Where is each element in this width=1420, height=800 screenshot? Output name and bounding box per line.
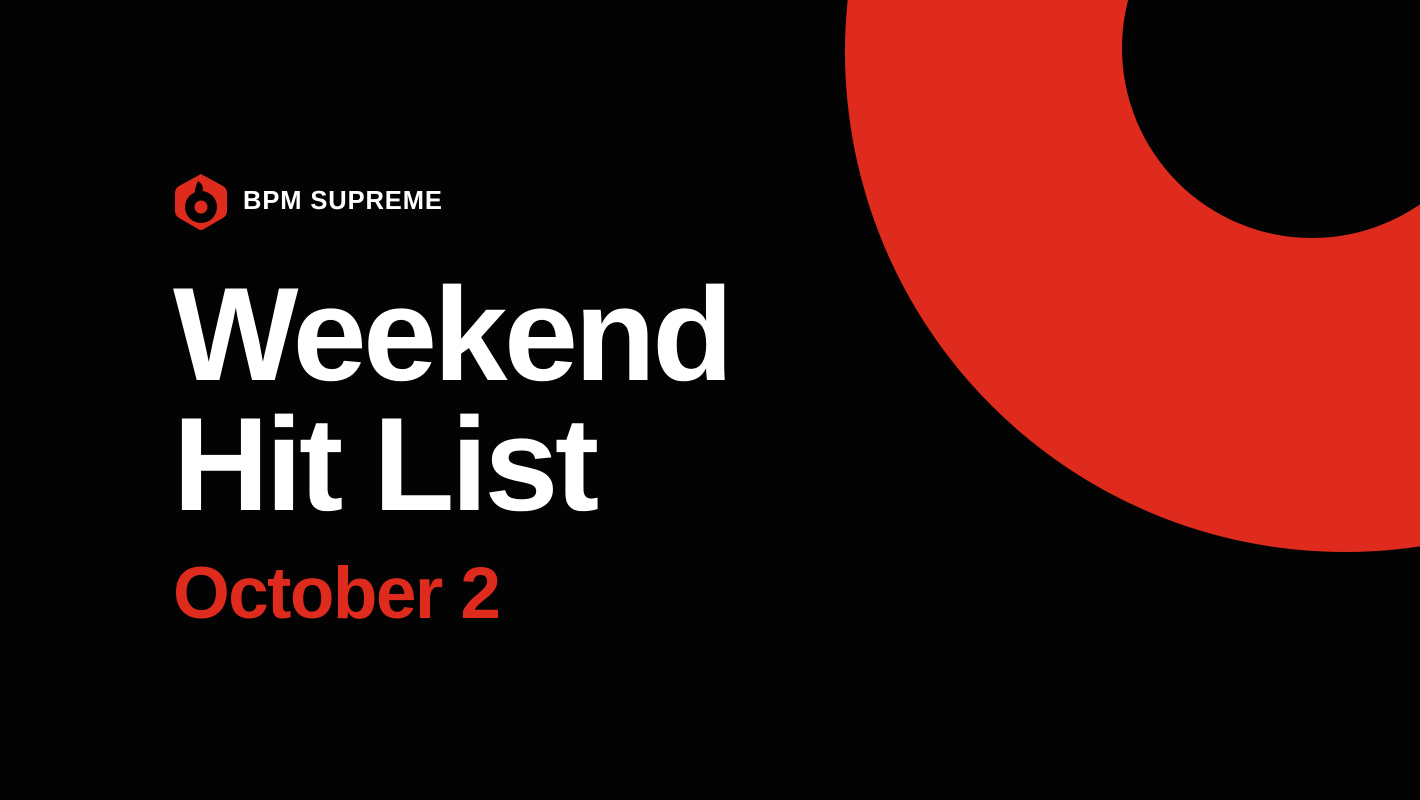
content-block: BPM SUPREME Weekend Hit List October 2	[173, 170, 873, 630]
headline-line-1: Weekend	[173, 270, 873, 400]
bpm-supreme-logo-icon	[173, 173, 229, 231]
brand-lockup: BPM SUPREME	[173, 170, 873, 234]
brand-name: BPM SUPREME	[243, 189, 443, 215]
date-label: October 2	[173, 557, 873, 630]
headline-line-2: Hit List	[173, 400, 873, 530]
page-title: Weekend Hit List	[173, 270, 873, 531]
promo-banner: BPM SUPREME Weekend Hit List October 2	[0, 0, 1420, 800]
logo-inner-dot	[195, 201, 208, 214]
